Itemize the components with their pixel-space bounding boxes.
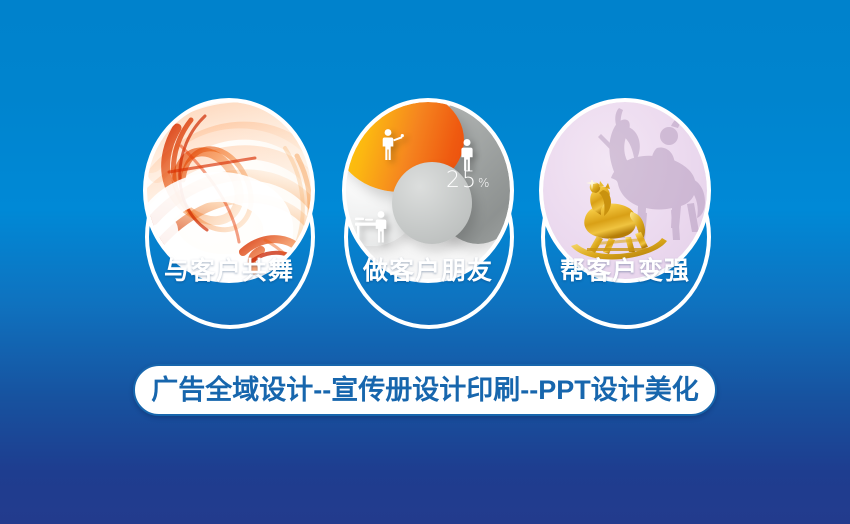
feature-image-disc-3[interactable] (539, 98, 711, 283)
feature-image-disc-2[interactable]: 25% (342, 98, 514, 283)
person-at-desk-icon (354, 210, 396, 244)
stat-percent-value: 25 (446, 168, 478, 193)
feature-artwork-2: 25% (346, 102, 510, 279)
orange-abstract-ribbon-art (147, 102, 311, 279)
feature-artwork-1 (147, 102, 311, 279)
feature-artwork-3 (543, 102, 707, 279)
infographic-blobs-art: 25% (346, 102, 510, 279)
golden-rocking-horse-icon (567, 180, 671, 264)
golden-rocking-horse-art (543, 102, 707, 279)
feature-unit-1[interactable]: 与客户共舞 (131, 82, 327, 332)
person-presenter-icon (378, 128, 404, 162)
feature-unit-3[interactable]: 帮客户变强 (527, 82, 723, 332)
feature-image-disc-1[interactable] (143, 98, 315, 283)
feature-caption-1: 与客户共舞 (131, 259, 327, 284)
poster-canvas: 与客户共舞 (0, 0, 850, 524)
feature-unit-2[interactable]: 25% 做客户朋友 (330, 82, 526, 332)
feature-circles-group: 与客户共舞 (0, 0, 850, 340)
feature-caption-2: 做客户朋友 (330, 259, 526, 284)
tagline-banner[interactable]: 广告全域设计--宣传册设计印刷--PPT设计美化 (133, 364, 717, 416)
feature-caption-3: 帮客户变强 (527, 259, 723, 284)
stat-percent-label: 25% (446, 168, 491, 193)
tagline-banner-text: 广告全域设计--宣传册设计印刷--PPT设计美化 (151, 377, 698, 404)
person-standing-icon (458, 138, 476, 172)
stat-percent-unit: % (478, 176, 491, 190)
